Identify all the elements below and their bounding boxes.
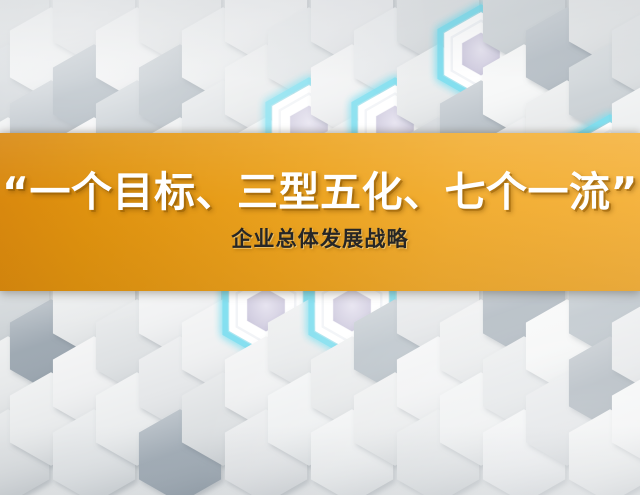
slide-canvas: “一个目标、三型五化、七个一流” 企业总体发展战略 <box>0 0 640 495</box>
title-banner: “一个目标、三型五化、七个一流” 企业总体发展战略 <box>0 133 640 291</box>
main-title: “一个目标、三型五化、七个一流” <box>2 171 638 214</box>
sub-title: 企业总体发展战略 <box>231 223 409 253</box>
title-banner-content: “一个目标、三型五化、七个一流” 企业总体发展战略 <box>0 133 640 291</box>
